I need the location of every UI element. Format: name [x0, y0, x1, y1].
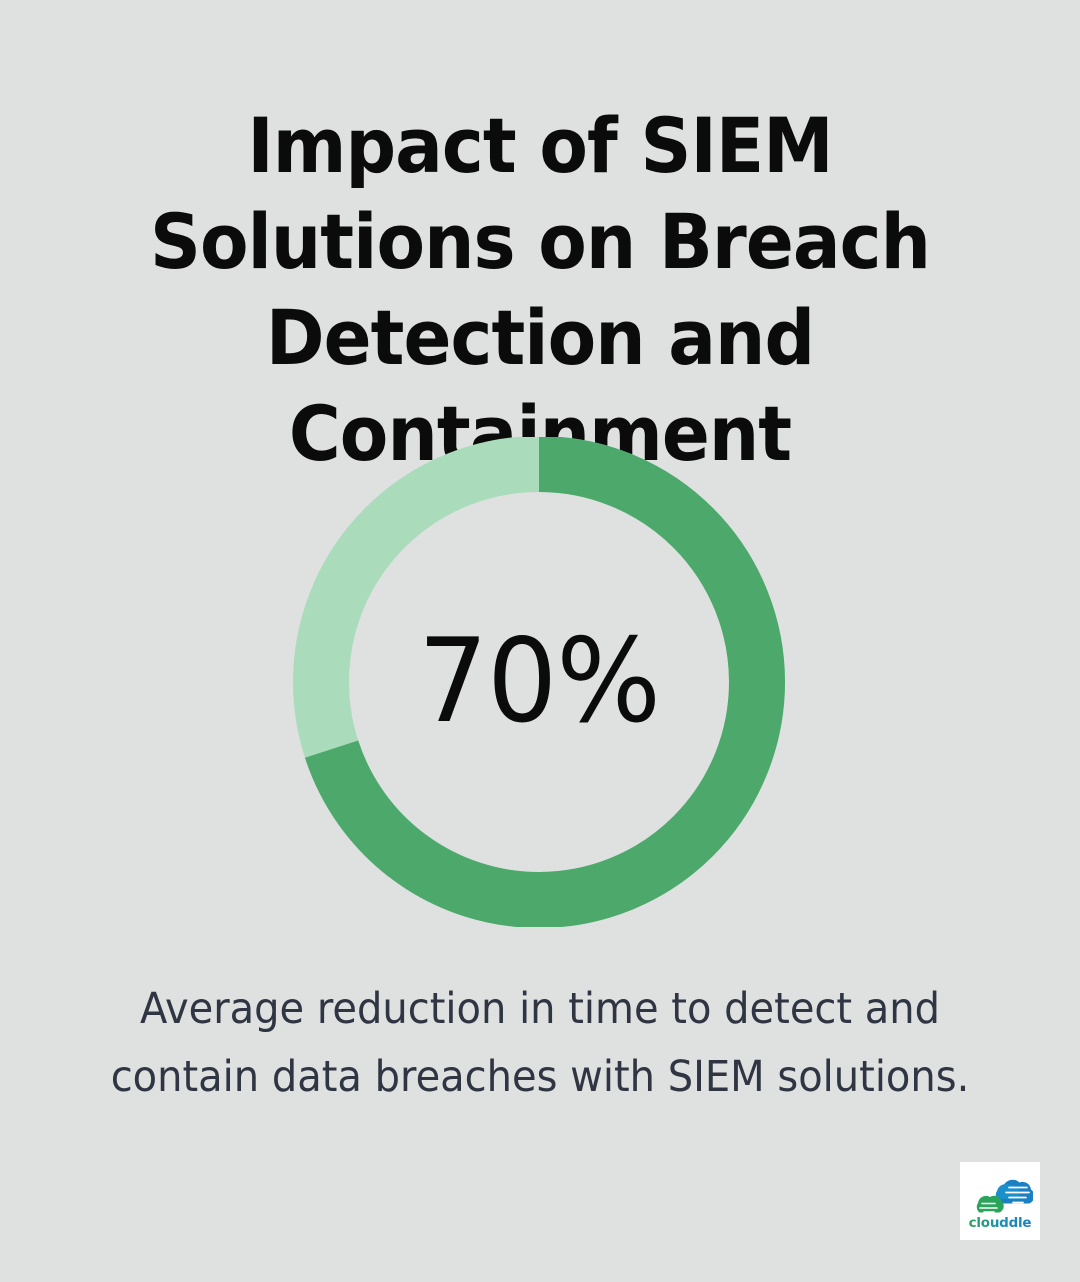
chart-caption: Average reduction in time to detect and … [94, 975, 987, 1111]
page-title: Impact of SIEM Solutions on Breach Detec… [75, 98, 1005, 482]
brand-wordmark: clouddle [969, 1215, 1032, 1230]
title-block: Impact of SIEM Solutions on Breach Detec… [40, 98, 1040, 482]
subtitle-block: Average reduction in time to detect and … [60, 975, 1020, 1111]
donut-center-value: 70% [305, 437, 772, 927]
donut-chart: 70% [293, 437, 785, 927]
infographic-canvas: Impact of SIEM Solutions on Breach Detec… [0, 0, 1080, 1282]
brand-logo: clouddle [960, 1162, 1040, 1240]
clouddle-logo-icon: clouddle [967, 1172, 1033, 1230]
cloud-blue-icon [996, 1180, 1033, 1204]
